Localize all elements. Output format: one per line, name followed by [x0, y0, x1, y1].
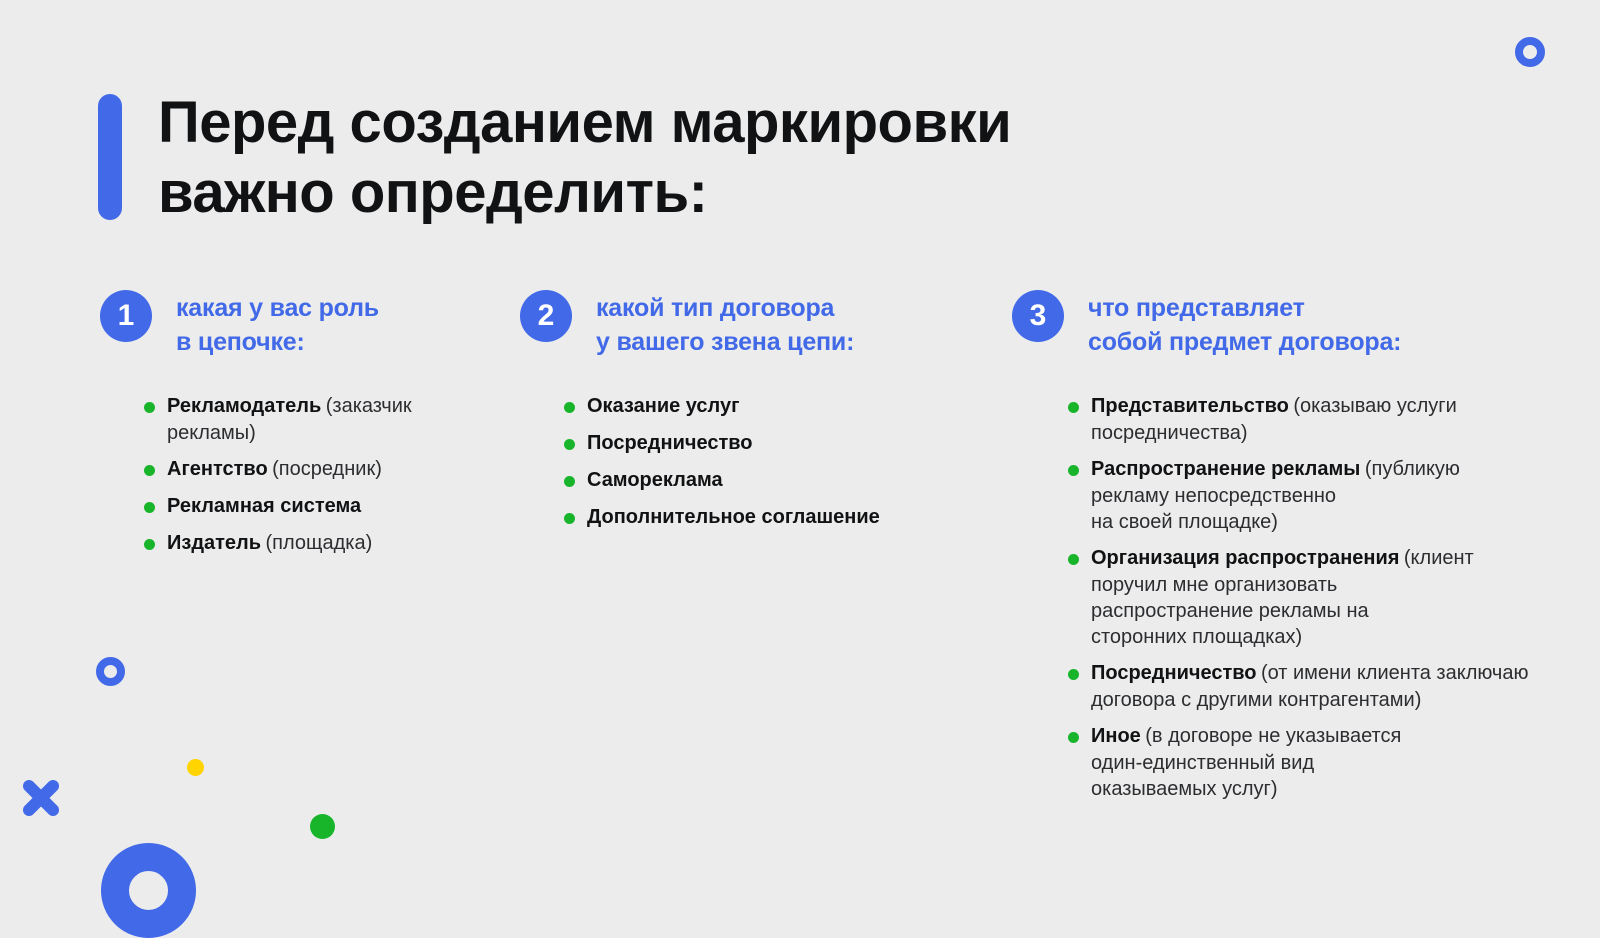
list-item-title: Агентство [167, 458, 268, 480]
bullet-dot-icon [144, 539, 155, 550]
column-1: 1 какая у вас роль в цепочке: Рекламодат… [100, 290, 500, 567]
cross-blue-icon [22, 779, 60, 817]
list-item: Представительство (оказываю услуги посре… [1068, 393, 1532, 446]
list-item-title: Оказание услуг [587, 395, 739, 417]
bullet-dot-icon [1068, 554, 1079, 565]
list-item-note: (посредник) [272, 458, 382, 480]
list-item-text: Оказание услуг [587, 393, 739, 420]
title-accent-bar [98, 94, 122, 220]
bullet-dot-icon [1068, 669, 1079, 680]
column-1-list: Рекламодатель (заказчик рекламы) Агентст… [144, 393, 500, 557]
column-3-list: Представительство (оказываю услуги посре… [1068, 393, 1532, 802]
list-item-text: Рекламодатель (заказчик рекламы) [167, 393, 500, 446]
list-item-text: Рекламная система [167, 493, 361, 520]
column-3: 3 что представляет собой предмет договор… [1012, 290, 1532, 812]
list-item: Издатель (площадка) [144, 530, 500, 557]
list-item: Иное (в договоре не указывается один-еди… [1068, 723, 1532, 802]
dot-yellow-icon [187, 759, 204, 776]
page-title: Перед созданием маркировки важно определ… [158, 88, 1011, 228]
list-item-note: (площадка) [266, 532, 373, 554]
bullet-dot-icon [564, 476, 575, 487]
list-item: Агентство (посредник) [144, 456, 500, 483]
bullet-dot-icon [564, 439, 575, 450]
list-item-title: Издатель [167, 532, 261, 554]
list-item-title: Рекламодатель [167, 395, 321, 417]
column-3-header: 3 что представляет собой предмет договор… [1012, 290, 1532, 359]
column-3-title: что представляет собой предмет договора: [1088, 291, 1401, 359]
bullet-dot-icon [144, 402, 155, 413]
list-item-text: Распространение рекламы (публикую реклам… [1091, 456, 1532, 535]
list-item-text: Агентство (посредник) [167, 456, 382, 483]
list-item-title: Посредничество [587, 432, 753, 454]
list-item-text: Посредничество [587, 430, 753, 457]
list-item-text: Иное (в договоре не указывается один-еди… [1091, 723, 1401, 802]
column-2-header: 2 какой тип договора у вашего звена цепи… [520, 290, 990, 359]
ring-big-bottom-icon [101, 843, 196, 938]
column-2-title: какой тип договора у вашего звена цепи: [596, 291, 854, 359]
column-1-title: какая у вас роль в цепочке: [176, 291, 379, 359]
list-item-text: Посредничество (от имени клиента заключа… [1091, 660, 1528, 713]
bullet-dot-icon [144, 502, 155, 513]
list-item: Посредничество [564, 430, 990, 457]
step-number-badge-1: 1 [100, 290, 152, 342]
list-item-title: Иное [1091, 725, 1141, 747]
list-item: Оказание услуг [564, 393, 990, 420]
step-number-badge-3: 3 [1012, 290, 1064, 342]
list-item-title: Дополнительное соглашение [587, 506, 880, 528]
list-item-title: Посредничество [1091, 662, 1257, 684]
slide-canvas: Перед созданием маркировки важно определ… [0, 0, 1600, 900]
bullet-dot-icon [564, 402, 575, 413]
list-item: Рекламодатель (заказчик рекламы) [144, 393, 500, 446]
title-block: Перед созданием маркировки важно определ… [98, 88, 1011, 228]
list-item-text: Дополнительное соглашение [587, 504, 880, 531]
bullet-dot-icon [1068, 732, 1079, 743]
list-item-title: Представительство [1091, 395, 1289, 417]
list-item-text: Издатель (площадка) [167, 530, 372, 557]
list-item: Рекламная система [144, 493, 500, 520]
list-item-text: Самореклама [587, 467, 723, 494]
bullet-dot-icon [564, 513, 575, 524]
bullet-dot-icon [144, 465, 155, 476]
dot-green-icon [310, 814, 335, 839]
list-item-text: Представительство (оказываю услуги посре… [1091, 393, 1532, 446]
ring-top-right-icon [1515, 37, 1545, 67]
list-item: Самореклама [564, 467, 990, 494]
list-item: Дополнительное соглашение [564, 504, 990, 531]
bullet-dot-icon [1068, 465, 1079, 476]
step-number-badge-2: 2 [520, 290, 572, 342]
column-1-header: 1 какая у вас роль в цепочке: [100, 290, 500, 359]
list-item-title: Самореклама [587, 469, 723, 491]
list-item-title: Рекламная система [167, 495, 361, 517]
bullet-dot-icon [1068, 402, 1079, 413]
list-item-text: Организация распространения (клиент пору… [1091, 545, 1532, 650]
list-item: Посредничество (от имени клиента заключа… [1068, 660, 1532, 713]
list-item: Организация распространения (клиент пору… [1068, 545, 1532, 650]
column-2-list: Оказание услуг Посредничество Самореклам… [564, 393, 990, 531]
ring-small-left-icon [96, 657, 125, 686]
list-item-title: Распространение рекламы [1091, 458, 1360, 480]
list-item-title: Организация распространения [1091, 547, 1399, 569]
column-2: 2 какой тип договора у вашего звена цепи… [520, 290, 990, 541]
list-item: Распространение рекламы (публикую реклам… [1068, 456, 1532, 535]
